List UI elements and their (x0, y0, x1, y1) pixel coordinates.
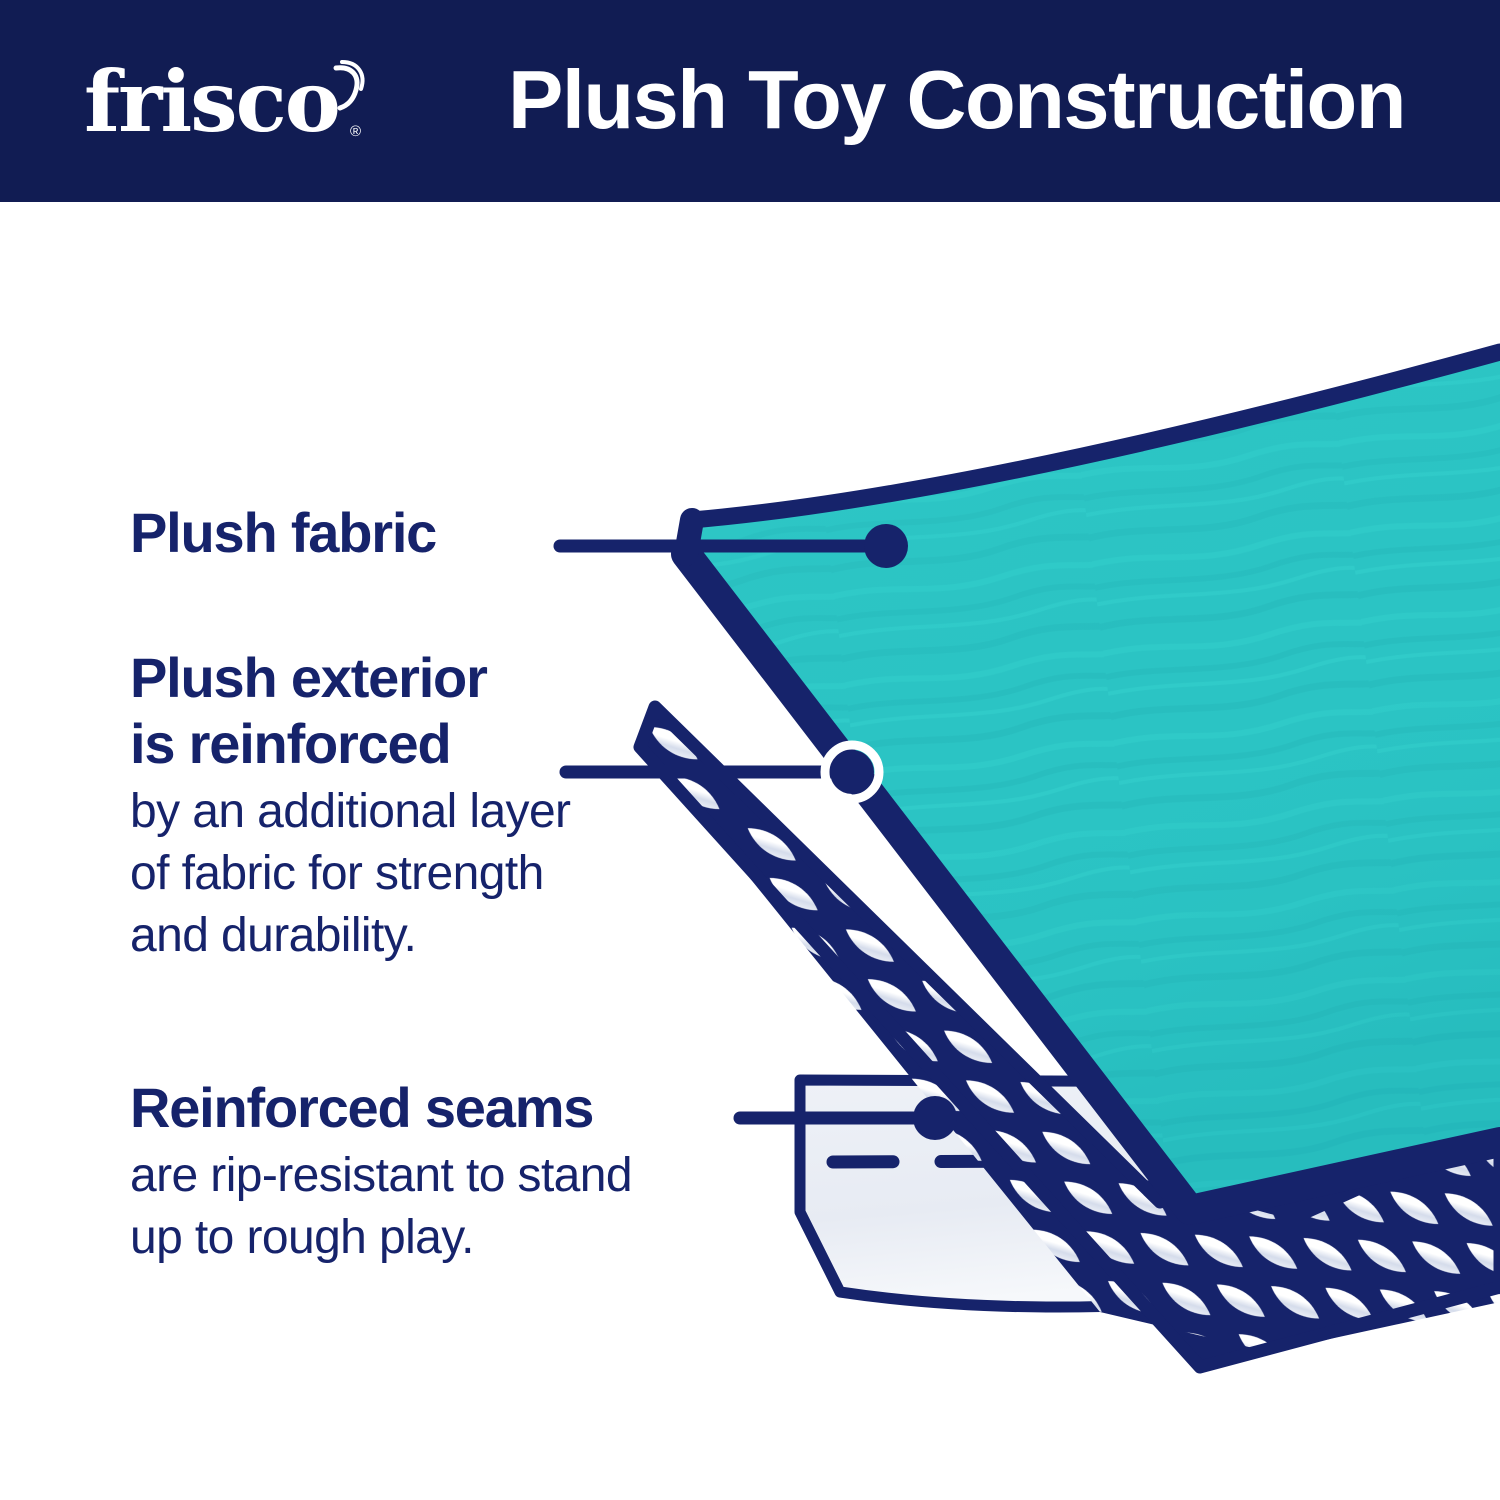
registered-trademark-mark: ® (350, 124, 361, 139)
leader-dot-reinforced-seams (913, 1096, 957, 1140)
infographic-page: frisco ® Plush Toy Construction (0, 0, 1500, 1500)
callout-plush-fabric: Plush fabric (130, 500, 436, 566)
leader-dot-plush-exterior (830, 750, 874, 794)
callout-heading: Plush exterior is reinforced (130, 645, 570, 777)
callout-body: by an additional layer of fabric for str… (130, 781, 570, 967)
callout-body: are rip-resistant to stand up to rough p… (130, 1145, 632, 1269)
header-band: frisco ® Plush Toy Construction (0, 0, 1500, 202)
leader-dot-plush-fabric (864, 524, 908, 568)
logo-swoosh-icon (84, 52, 384, 152)
callout-reinforced-seams: Reinforced seams are rip-resistant to st… (130, 1075, 632, 1269)
callout-heading: Reinforced seams (130, 1075, 632, 1141)
page-title: Plush Toy Construction (508, 44, 1408, 156)
callout-plush-exterior: Plush exterior is reinforced by an addit… (130, 645, 570, 967)
callout-heading: Plush fabric (130, 500, 436, 566)
frisco-logo: frisco ® (84, 52, 384, 152)
